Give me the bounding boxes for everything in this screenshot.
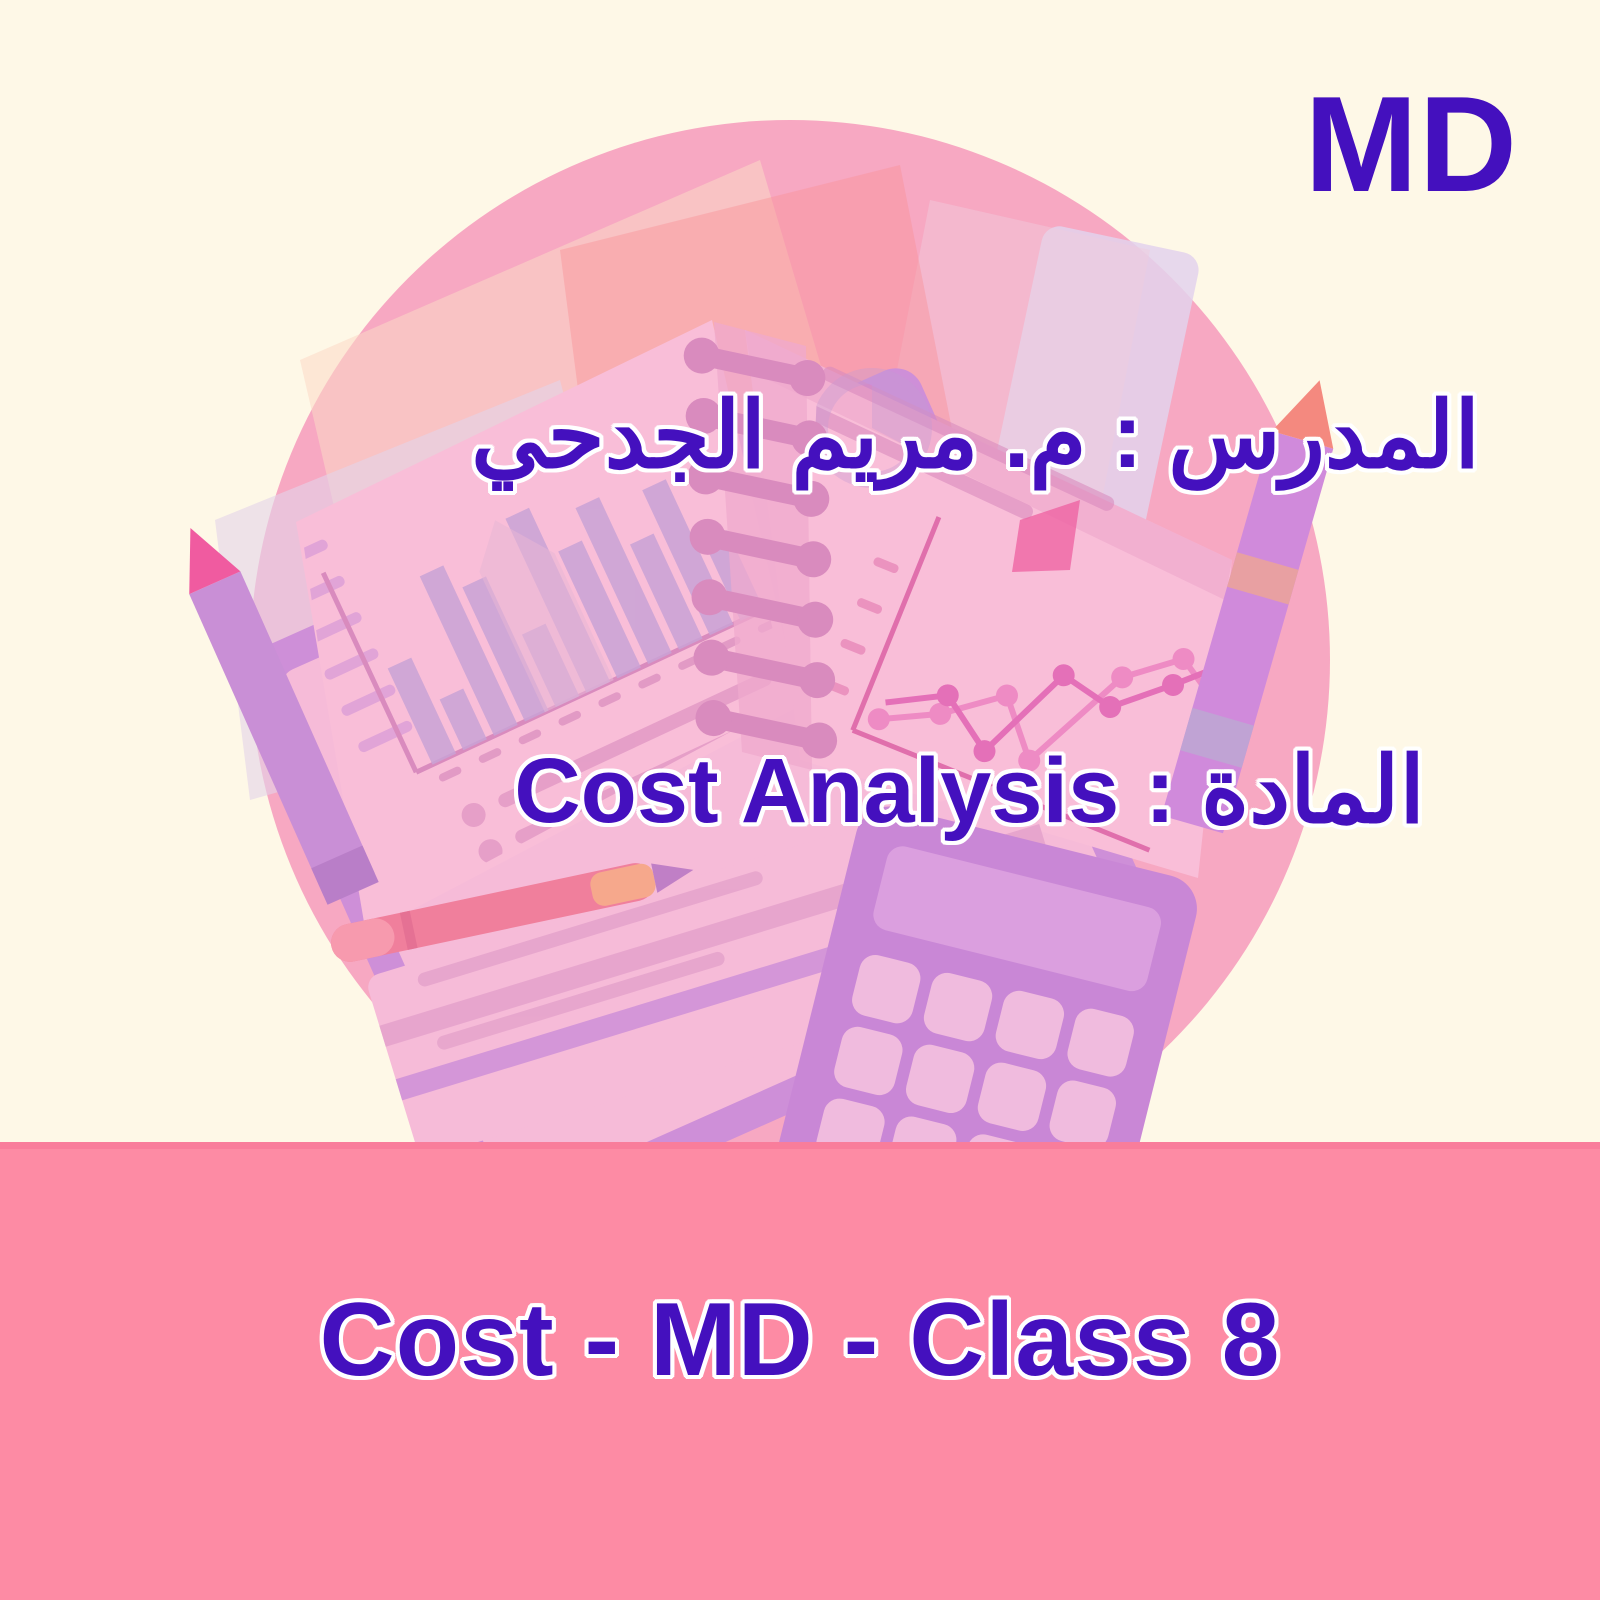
footer-line: Cost - MD - Class 8 [320, 1288, 1281, 1392]
footer-band-top-line [0, 1142, 1600, 1149]
subject-line: المادة : Cost Analysis [514, 745, 1425, 837]
badge-md: MD [1304, 76, 1518, 212]
course-cover-card: MD المدرس : م. مريم الجدحي المادة : Cost… [0, 0, 1600, 1600]
teacher-line: المدرس : م. مريم الجدحي [471, 390, 1480, 482]
